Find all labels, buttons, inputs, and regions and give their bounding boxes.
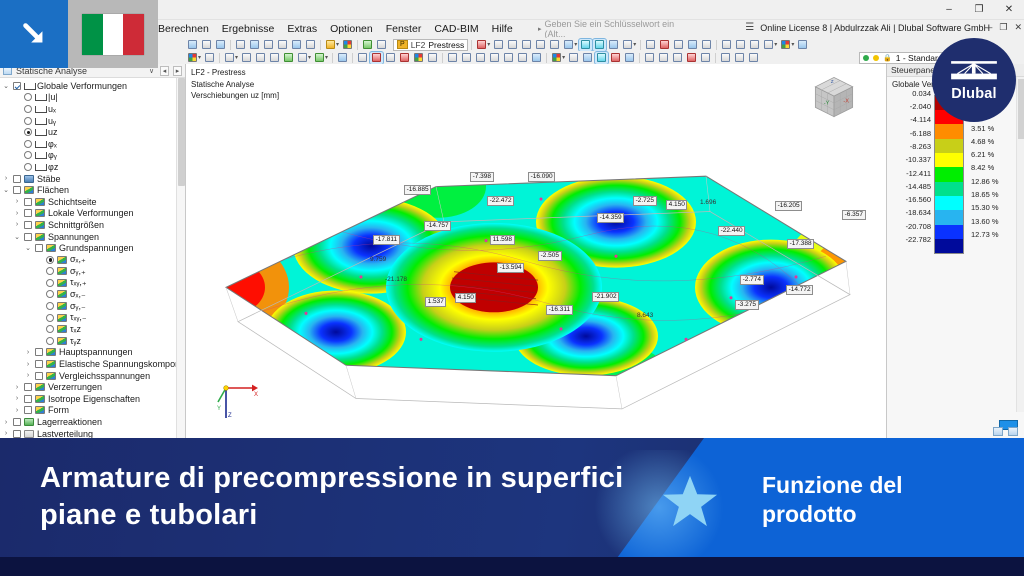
view-top-icon[interactable] <box>734 39 747 51</box>
surface-load-icon[interactable] <box>370 52 383 64</box>
tree-radio[interactable] <box>24 117 32 125</box>
result-color-legend[interactable]: 0.034-2.040-4.114-6.188-8.263-10.337-12.… <box>887 95 1024 255</box>
tree-item-label: τₓᵧ,₋ <box>70 312 87 323</box>
tree-item[interactable]: ›Lastverteilung <box>0 428 185 438</box>
solid-results-icon[interactable] <box>623 52 636 64</box>
tree-item[interactable]: σₓ,₊ <box>0 254 185 266</box>
undo-icon[interactable] <box>304 39 317 51</box>
tree-checkbox[interactable] <box>13 186 21 194</box>
tree-checkbox[interactable] <box>35 372 43 380</box>
tree-item-label: σₓ,₊ <box>70 254 86 265</box>
menu-item-berechnen[interactable]: Berechnen <box>158 23 209 35</box>
load-case-badge: P <box>397 40 408 49</box>
legend-color-band[interactable] <box>935 124 963 138</box>
nodal-load-icon[interactable] <box>336 52 349 64</box>
tree-radio[interactable] <box>46 256 54 264</box>
open-model-icon[interactable] <box>200 39 213 51</box>
expander-icon[interactable]: ⌄ <box>2 82 10 90</box>
unlock-icon[interactable] <box>733 52 746 64</box>
view-iso-icon[interactable] <box>762 39 775 51</box>
flag-stripe-green <box>82 14 103 55</box>
tree-checkbox[interactable] <box>24 221 32 229</box>
view-front-icon[interactable] <box>720 39 733 51</box>
tree-radio[interactable] <box>46 290 54 298</box>
window-controls: – ❐ ✕ <box>934 0 1024 20</box>
hinge-icon[interactable] <box>296 52 309 64</box>
arrow-down-right-icon <box>19 19 49 49</box>
tree-item[interactable]: σₓ,₋ <box>0 289 185 301</box>
dlubal-wordmark: Dlubal <box>951 86 997 102</box>
toolbar-separator <box>219 53 220 63</box>
tree-item[interactable]: uᴢ <box>0 126 185 138</box>
legend-percent: 13.60 % <box>967 214 1011 227</box>
isoline-icon[interactable] <box>607 39 620 51</box>
result-value-label: 11.598 <box>490 235 515 245</box>
colors-icon[interactable] <box>779 39 792 51</box>
color-scale-icon[interactable] <box>550 52 563 64</box>
prestress-icon[interactable] <box>412 52 425 64</box>
toolbar-separator <box>639 53 640 63</box>
load-icon[interactable] <box>313 52 326 64</box>
tree-item-label: uᴢ <box>48 127 58 137</box>
navigator-panel: Statische Analyse ∨ ◂ ▸ ⌄Globale Verform… <box>0 64 186 438</box>
menu-item-ergebnisse[interactable]: Ergebnisse <box>222 23 275 35</box>
line-load-icon[interactable] <box>356 52 369 64</box>
view-side-icon[interactable] <box>748 39 761 51</box>
tree-radio[interactable] <box>24 163 32 171</box>
legend-value: -2.040 <box>891 102 931 115</box>
legend-value: -10.337 <box>891 155 931 168</box>
menu-item-cad-bim[interactable]: CAD-BIM <box>434 23 478 35</box>
measure-icon[interactable] <box>502 52 515 64</box>
tree-item-label: Hauptspannungen <box>59 347 133 357</box>
settings-icon[interactable] <box>581 52 594 64</box>
banner-title: Armature di precompressione in superfici… <box>40 460 640 534</box>
export-icon[interactable] <box>796 39 809 51</box>
doc-close-icon[interactable]: ✕ <box>1014 22 1022 33</box>
align-icon[interactable] <box>446 52 459 64</box>
tree-checkbox[interactable] <box>35 348 43 356</box>
banner-bottom-strip <box>0 557 1024 576</box>
tree-radio[interactable] <box>46 337 54 345</box>
surface-results-icon[interactable] <box>595 52 608 64</box>
member-icon[interactable] <box>223 52 236 64</box>
select-icon[interactable] <box>643 52 656 64</box>
svg-text:-Y: -Y <box>824 101 830 107</box>
wireframe-icon[interactable] <box>375 39 388 51</box>
expander-icon[interactable]: ⌄ <box>13 233 21 241</box>
printout-report-icon[interactable] <box>262 39 275 51</box>
tree-item[interactable]: τₓᵧ,₊ <box>0 277 185 289</box>
screenshot-icon[interactable] <box>699 52 712 64</box>
expander-icon[interactable]: ⌄ <box>2 186 10 194</box>
render-mode-icon[interactable] <box>361 39 374 51</box>
result-value-label: -22.440 <box>718 226 745 236</box>
new-model-icon[interactable] <box>186 39 199 51</box>
save-icon[interactable] <box>214 39 227 51</box>
def-icon <box>35 105 45 113</box>
doc-minimize-icon[interactable]: – <box>987 22 992 33</box>
def-icon <box>24 82 34 90</box>
tree-item[interactable]: ›Isotrope Eigenschaften <box>0 393 185 405</box>
surf-icon <box>57 314 67 322</box>
tree-item[interactable]: ⌄Spannungen <box>0 231 185 243</box>
panel-footer-icons <box>993 427 1018 436</box>
tree-checkbox[interactable] <box>24 209 32 217</box>
paste-icon[interactable] <box>290 39 303 51</box>
frame-icon <box>24 430 34 438</box>
legend-color-band[interactable] <box>935 167 963 181</box>
navigator-scrollbar[interactable] <box>176 78 185 438</box>
expander-icon[interactable]: › <box>2 175 10 182</box>
legend-value: -8.263 <box>891 142 931 155</box>
tree-checkbox[interactable] <box>35 244 43 252</box>
zoom-window-icon[interactable] <box>644 39 657 51</box>
surf-icon <box>57 279 67 287</box>
rotate-icon[interactable] <box>686 39 699 51</box>
solid-icon[interactable] <box>254 52 267 64</box>
tree-item-label: τᵧᴢ <box>70 336 81 346</box>
tree-item[interactable]: τₓᵧ,₋ <box>0 312 185 324</box>
banner-subtitle: Funzione del prodotto <box>762 471 1002 529</box>
highlight-dot-icon <box>873 55 879 61</box>
surf-icon <box>46 360 56 368</box>
angle-icon[interactable] <box>516 52 529 64</box>
toolbar-separator <box>352 53 353 63</box>
surf-icon <box>35 406 45 414</box>
expander-icon[interactable]: › <box>13 198 21 205</box>
tree-item[interactable]: ⌄Flächen <box>0 184 185 196</box>
menu-item-hilfe[interactable]: Hilfe <box>492 23 513 35</box>
load-case-selector[interactable]: P LF2 Prestress <box>393 39 468 51</box>
legend-percent: 6.21 % <box>967 148 1011 161</box>
toolbar-separator <box>640 40 641 50</box>
table-icon[interactable] <box>567 52 580 64</box>
toolbar-separator <box>442 53 443 63</box>
minimize-icon[interactable]: – <box>934 0 964 20</box>
grid-icon[interactable] <box>506 39 519 51</box>
surf-icon <box>35 221 45 229</box>
results-tree[interactable]: ⌄Globale Verformungen|u|uₓuᵧuᴢφₓφᵧφᴢ›Stä… <box>0 78 185 438</box>
legend-percent: 8.42 % <box>967 161 1011 174</box>
tree-item[interactable]: φᵧ <box>0 150 185 162</box>
result-value-label: -7.398 <box>470 172 494 182</box>
tree-item[interactable]: ⌄Globale Verformungen <box>0 80 185 92</box>
toolbar-separator <box>471 40 472 50</box>
imperfection-icon[interactable] <box>398 52 411 64</box>
result-value-label: -14.757 <box>424 221 451 231</box>
layers-icon[interactable] <box>562 39 575 51</box>
member-results-icon[interactable] <box>609 52 622 64</box>
tree-radio[interactable] <box>46 314 54 322</box>
result-diagram-icon[interactable] <box>621 39 634 51</box>
tree-item[interactable]: τₓᴢ <box>0 323 185 335</box>
model-viewport[interactable]: LF2 - Prestress Statische Analyse Versch… <box>186 64 886 438</box>
contour-field <box>186 64 886 438</box>
license-text: Online License 8 | Abdulrzzak Ali | Dlub… <box>760 23 990 33</box>
toolbar-separator <box>546 53 547 63</box>
legend-value: -22.782 <box>891 235 931 248</box>
menu-item-optionen[interactable]: Optionen <box>330 23 373 35</box>
search-placeholder-text: Geben Sie ein Schlüsselwort ein (Alt... <box>545 19 688 39</box>
legend-value: -6.188 <box>891 129 931 142</box>
object-snap-icon[interactable] <box>534 39 547 51</box>
promo-banner: Armature di precompressione in superfici… <box>0 438 1024 576</box>
legend-percent: 18.65 % <box>967 188 1011 201</box>
result-value-label: -16.885 <box>404 185 431 195</box>
tree-checkbox[interactable] <box>24 383 32 391</box>
surf-icon <box>46 348 56 356</box>
legend-percent: 12.73 % <box>967 228 1011 241</box>
tree-radio[interactable] <box>24 151 32 159</box>
lasso-select-icon[interactable] <box>657 52 670 64</box>
tree-radio[interactable] <box>46 325 54 333</box>
tree-item[interactable]: ›Schnittgrößen <box>0 219 185 231</box>
surf-icon <box>57 302 67 310</box>
legend-color-band[interactable] <box>935 239 963 253</box>
close-icon[interactable]: ✕ <box>994 0 1024 20</box>
legend-color-band[interactable] <box>935 139 963 153</box>
pan-icon[interactable] <box>672 39 685 51</box>
tree-checkbox[interactable] <box>13 175 21 183</box>
warning-icon[interactable] <box>671 52 684 64</box>
tree-item[interactable]: ⌄Grundspannungen <box>0 242 185 254</box>
calculate-icon[interactable] <box>324 39 337 51</box>
dlubal-bridge-icon <box>948 58 1000 84</box>
result-value-label: -21.902 <box>592 292 619 302</box>
toolbar-separator <box>715 53 716 63</box>
result-value-label: -16.090 <box>528 172 555 182</box>
tree-item[interactable]: ›Lagerreaktionen <box>0 416 185 428</box>
surf-icon <box>46 372 56 380</box>
license-info[interactable]: ☰ Online License 8 | Abdulrzzak Ali | Dl… <box>745 22 990 33</box>
tree-item-label: Lokale Verformungen <box>48 208 134 218</box>
tree-item[interactable]: τᵧᴢ <box>0 335 185 347</box>
print-preview-icon[interactable] <box>248 39 261 51</box>
surface-icon[interactable] <box>240 52 253 64</box>
results-table-icon[interactable] <box>341 39 354 51</box>
expander-icon[interactable]: › <box>13 221 21 228</box>
sup-icon <box>24 418 34 426</box>
view-cube-icon[interactable]: -Y -X Z <box>806 70 862 126</box>
legend-color-band[interactable] <box>935 196 963 210</box>
expander-icon[interactable]: › <box>2 430 10 437</box>
tree-radio[interactable] <box>24 93 32 101</box>
print-icon[interactable] <box>234 39 247 51</box>
tree-item[interactable]: ›Form <box>0 405 185 417</box>
tree-item-label: Vergleichsspannungen <box>59 371 150 381</box>
expander-icon[interactable]: › <box>13 395 21 402</box>
copy-icon[interactable] <box>276 39 289 51</box>
scrollbar-thumb[interactable] <box>1018 79 1024 139</box>
surf-icon <box>35 395 45 403</box>
expander-icon[interactable]: › <box>2 419 10 426</box>
tree-item[interactable]: ›Stäbe <box>0 173 185 185</box>
tree-item-label: uₓ <box>48 104 56 114</box>
mem-icon <box>24 175 34 183</box>
distribute-icon[interactable] <box>460 52 473 64</box>
tree-item-label: Verzerrungen <box>48 382 102 392</box>
ortho-icon[interactable] <box>520 39 533 51</box>
opening-icon[interactable] <box>268 52 281 64</box>
maximize-icon[interactable]: ❐ <box>964 0 994 20</box>
tendon-icon[interactable] <box>426 52 439 64</box>
tree-item-label: Stäbe <box>37 174 61 184</box>
def-icon <box>35 163 45 171</box>
scrollbar-thumb[interactable] <box>178 78 185 186</box>
legend-color-band[interactable] <box>935 153 963 167</box>
license-key-icon: ☰ <box>745 22 754 33</box>
toolbar-separator <box>320 40 321 50</box>
result-value-label: -2.725 <box>633 196 657 206</box>
contour-display-icon[interactable] <box>593 39 606 51</box>
control-panel-title: Steuerpanel <box>891 65 937 75</box>
surf-icon <box>24 186 34 194</box>
result-value-label: -14.359 <box>597 213 624 223</box>
tree-item-label: Form <box>48 405 69 415</box>
legend-color-band[interactable] <box>935 182 963 196</box>
expander-icon[interactable]: › <box>24 349 32 356</box>
tree-item[interactable]: ›Elastische Spannungskomponenten <box>0 358 185 370</box>
legend-percent: 3.51 % <box>967 121 1011 134</box>
def-icon <box>35 93 45 101</box>
svg-text:Z: Z <box>831 79 834 84</box>
legend-color-band[interactable] <box>935 210 963 224</box>
nav-next-button[interactable]: ▸ <box>173 66 182 76</box>
legend-color-band[interactable] <box>935 225 963 239</box>
tree-item[interactable]: ›Vergleichsspannungen <box>0 370 185 382</box>
free-load-icon[interactable] <box>384 52 397 64</box>
tree-checkbox[interactable] <box>24 406 32 414</box>
result-value-label: -6.357 <box>842 210 866 220</box>
result-value-label: -2.774 <box>740 275 764 285</box>
legend-value: -12.411 <box>891 169 931 182</box>
def-icon <box>35 117 45 125</box>
tree-checkbox[interactable] <box>24 233 32 241</box>
node-icon[interactable] <box>186 52 199 64</box>
tree-item-label: Isotrope Eigenschaften <box>48 394 140 404</box>
tree-checkbox[interactable] <box>24 198 32 206</box>
visible-dot-icon <box>863 55 869 61</box>
panel-table-icon[interactable] <box>1008 427 1018 436</box>
perspective-icon[interactable] <box>700 39 713 51</box>
tree-item-label: Grundspannungen <box>59 243 134 253</box>
tree-checkbox[interactable] <box>13 430 21 438</box>
zoom-all-icon[interactable] <box>658 39 671 51</box>
result-value-label: -22.472 <box>487 196 514 206</box>
keyword-search-input[interactable]: ▸ Geben Sie ein Schlüsselwort ein (Alt..… <box>538 22 688 36</box>
tree-radio[interactable] <box>24 105 32 113</box>
legend-value: -18.634 <box>891 208 931 221</box>
tree-item-label: |u| <box>48 92 58 102</box>
toolbar-separator <box>230 40 231 50</box>
result-value-label: 4.150 <box>455 293 476 303</box>
tree-item[interactable]: ›Verzerrungen <box>0 381 185 393</box>
load-case-name: Prestress <box>428 40 464 50</box>
legend-percent: 4.68 % <box>967 135 1011 148</box>
dimension-icon[interactable] <box>488 52 501 64</box>
flag-stripe-white <box>103 14 124 55</box>
tree-item[interactable]: uₓ <box>0 103 185 115</box>
tree-radio[interactable] <box>24 128 32 136</box>
control-panel: Steuerpanel Globale Verformungen uᴢ [mm]… <box>886 64 1024 438</box>
group-icon[interactable] <box>747 52 760 64</box>
tree-item[interactable]: uᵧ <box>0 115 185 127</box>
doc-restore-icon[interactable]: ❐ <box>999 22 1007 33</box>
deformation-display-icon[interactable] <box>579 39 592 51</box>
lock-icon[interactable] <box>719 52 732 64</box>
tree-radio[interactable] <box>24 140 32 148</box>
section-icon[interactable] <box>530 52 543 64</box>
tree-checkbox[interactable] <box>13 82 21 90</box>
expander-icon[interactable]: › <box>13 384 21 391</box>
tree-item-label: Spannungen <box>48 232 99 242</box>
cancel-icon[interactable] <box>685 52 698 64</box>
tree-checkbox[interactable] <box>24 395 32 403</box>
tree-item[interactable]: φᴢ <box>0 161 185 173</box>
tree-item[interactable]: ›Lokale Verformungen <box>0 208 185 220</box>
tree-item-label: φₓ <box>48 139 57 149</box>
expander-icon[interactable]: › <box>13 407 21 414</box>
tree-item[interactable]: |u| <box>0 92 185 104</box>
tree-item[interactable]: σᵧ,₊ <box>0 266 185 278</box>
result-value-label: -14.772 <box>786 285 813 295</box>
surf-icon <box>57 325 67 333</box>
tree-item[interactable]: ›Schichtseite <box>0 196 185 208</box>
panel-chart-icon[interactable] <box>993 427 1003 436</box>
expander-icon[interactable]: › <box>13 210 21 217</box>
menu-item-extras[interactable]: Extras <box>287 23 317 35</box>
tree-checkbox[interactable] <box>35 360 43 368</box>
tree-item-label: τₓᴢ <box>70 324 81 334</box>
surf-icon <box>35 209 45 217</box>
legend-value: -16.560 <box>891 195 931 208</box>
language-flag-box <box>68 0 158 68</box>
result-value-label: 9.759 <box>370 257 386 264</box>
tree-radio[interactable] <box>46 267 54 275</box>
expander-icon[interactable]: ⌄ <box>24 244 32 252</box>
nav-prev-button[interactable]: ◂ <box>160 66 169 76</box>
tree-item[interactable]: φₓ <box>0 138 185 150</box>
support-icon[interactable] <box>282 52 295 64</box>
expander-icon[interactable]: › <box>24 372 32 379</box>
tree-item-label: φᴢ <box>48 162 58 172</box>
result-value-label: -21.178 <box>385 277 407 284</box>
mirror-icon[interactable] <box>474 52 487 64</box>
legend-value: -14.485 <box>891 182 931 195</box>
expander-icon[interactable]: › <box>24 361 32 368</box>
line-icon[interactable] <box>203 52 216 64</box>
result-value-label: -17.811 <box>373 235 400 245</box>
tree-radio[interactable] <box>46 302 54 310</box>
tree-radio[interactable] <box>46 279 54 287</box>
fem-contour-plot[interactable] <box>186 64 886 438</box>
panel-scrollbar[interactable] <box>1016 77 1024 412</box>
delete-icon[interactable] <box>548 39 561 51</box>
tree-item[interactable]: σᵧ,₋ <box>0 300 185 312</box>
tree-item-label: Lagerreaktionen <box>37 417 102 427</box>
result-value-label: -2.505 <box>538 251 562 261</box>
tree-checkbox[interactable] <box>13 418 21 426</box>
snap-icon[interactable] <box>492 39 505 51</box>
menu-item-fenster[interactable]: Fenster <box>386 23 422 35</box>
surf-icon <box>57 290 67 298</box>
tree-item-label: Schnittgrößen <box>48 220 104 230</box>
arrow-badge <box>0 0 68 68</box>
pin-icon[interactable] <box>475 39 488 51</box>
tree-item[interactable]: ›Hauptspannungen <box>0 347 185 359</box>
lock-icon: 🔒 <box>883 54 892 62</box>
